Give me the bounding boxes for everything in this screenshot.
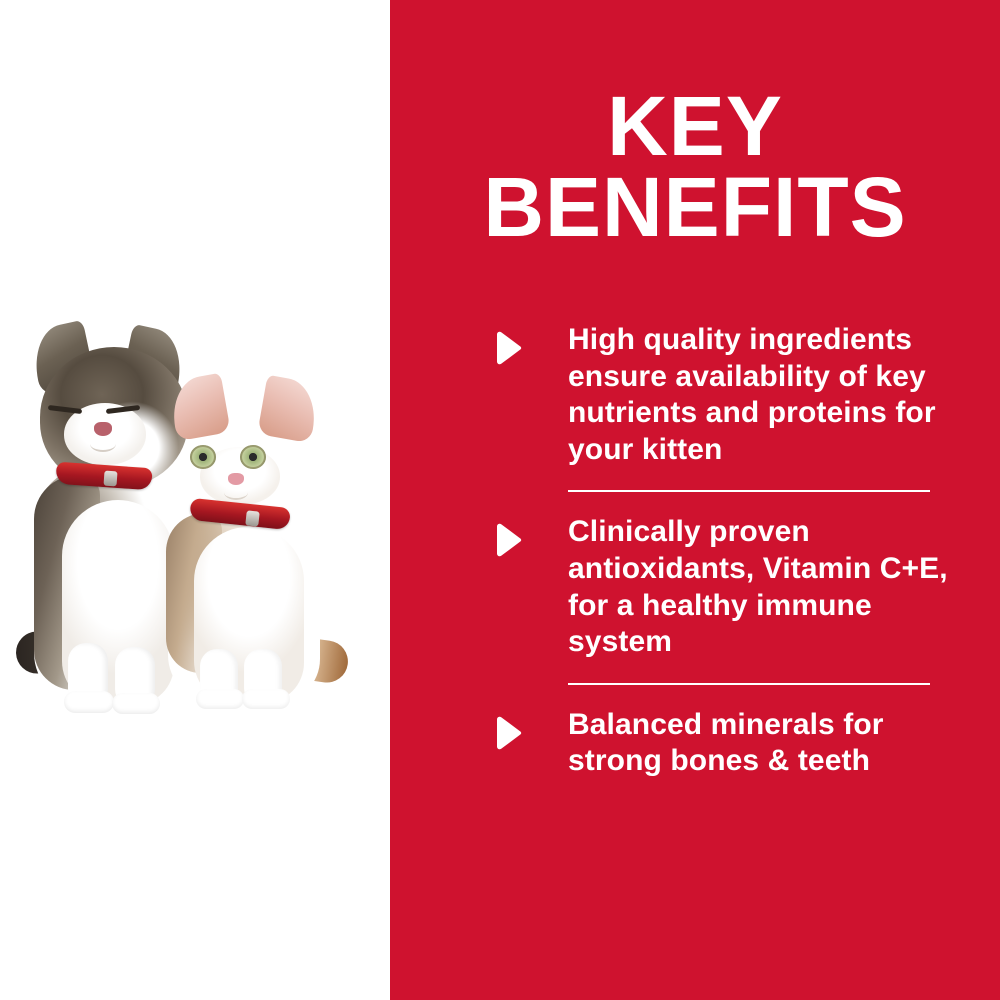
ginger-white-kitten (158, 377, 348, 717)
ginger-mouth (224, 485, 248, 500)
tabby-paw-left (64, 691, 114, 713)
ginger-eye-right (240, 445, 266, 469)
page-title: KEY BENEFITS (390, 86, 1000, 247)
tabby-nose (94, 422, 112, 436)
ginger-paw-right (242, 689, 290, 709)
benefit-item-2: Clinically proven antioxidants, Vitamin … (493, 514, 963, 660)
tabby-paw-right (112, 693, 160, 714)
triangle-right-icon (493, 331, 523, 365)
triangle-right-icon (493, 523, 523, 557)
benefit-divider-1 (568, 490, 930, 492)
benefit-text-3: Balanced minerals for strong bones & tee… (568, 707, 963, 780)
ginger-eye-left (190, 445, 216, 469)
kitten-photo-panel (0, 0, 390, 1000)
key-benefits-poster: KEY BENEFITS High quality ingredients en… (0, 0, 1000, 1000)
benefit-item-3: Balanced minerals for strong bones & tee… (493, 707, 963, 780)
benefits-list: High quality ingredients ensure availabi… (493, 322, 963, 780)
benefit-text-1: High quality ingredients ensure availabi… (568, 322, 963, 468)
benefit-item-1: High quality ingredients ensure availabi… (493, 322, 963, 468)
ginger-paw-left (196, 689, 244, 709)
tabby-collar-buckle (103, 471, 117, 487)
triangle-right-icon (493, 716, 523, 750)
key-benefits-panel: KEY BENEFITS High quality ingredients en… (390, 0, 1000, 1000)
benefit-divider-2 (568, 683, 930, 685)
ginger-collar-buckle (245, 510, 259, 526)
ginger-nose (228, 473, 244, 485)
kittens-photo (8, 315, 348, 715)
benefit-text-2: Clinically proven antioxidants, Vitamin … (568, 514, 963, 660)
tabby-mouth (90, 436, 116, 452)
